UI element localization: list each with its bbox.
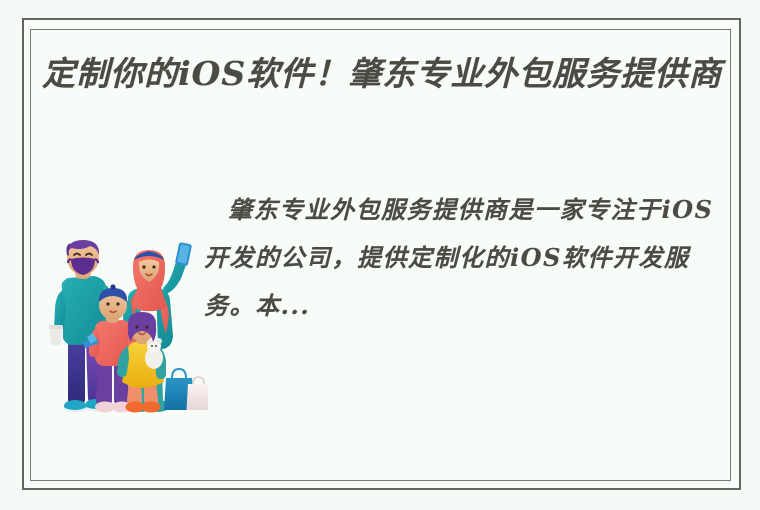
- article-page: 定制你的iOS软件！肇东专业外包服务提供商: [0, 0, 760, 510]
- article-excerpt: 肇东专业外包服务提供商是一家专注于iOS开发的公司，提供定制化的iOS软件开发服…: [204, 186, 724, 330]
- page-title: 定制你的iOS软件！肇东专业外包服务提供商: [42, 50, 742, 97]
- family-3d-illustration: [48, 232, 208, 414]
